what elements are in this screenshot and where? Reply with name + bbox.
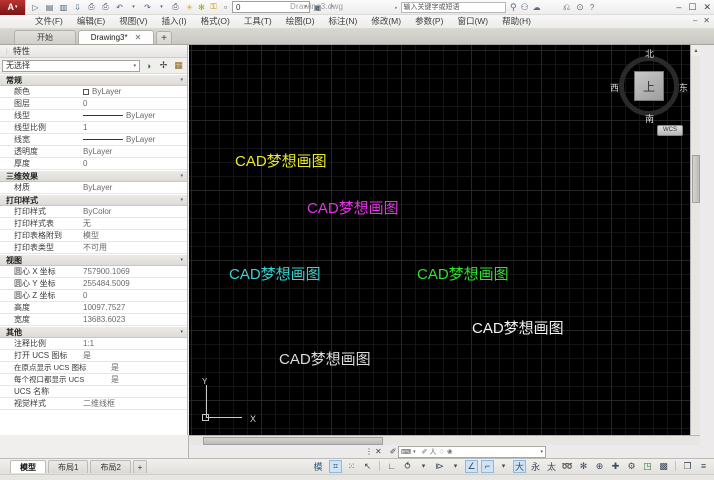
layout-tab-label: 布局1 — [58, 462, 78, 473]
selection-cycling-toggle[interactable]: 太 — [545, 460, 558, 473]
search-icon[interactable]: ⚲ — [510, 2, 517, 13]
tab-drawing3[interactable]: Drawing3* ✕ — [78, 30, 154, 44]
selection-value: 无选择 — [6, 60, 30, 71]
property-row[interactable]: 打印样式表 无 — [0, 218, 187, 230]
command-tool-icon-3[interactable]: ♢ — [439, 448, 445, 456]
layout-tab-layout1[interactable]: 布局1 — [48, 460, 88, 473]
quick-select-icon[interactable]: ◑ — [142, 59, 155, 72]
model-space-button[interactable]: 模 — [310, 460, 326, 473]
command-tool-icon-2[interactable]: 人 — [430, 447, 437, 457]
property-value[interactable]: 0 — [80, 99, 187, 108]
group-label: 视图 — [6, 255, 22, 266]
snap-mode-toggle[interactable]: ⁙ — [345, 460, 358, 473]
polar-tracking-toggle[interactable]: ⥀ — [401, 460, 414, 473]
color-swatch-icon — [83, 89, 89, 95]
status-separator — [379, 461, 380, 471]
group-header-3d-effects[interactable]: 三维效果 ▾ — [0, 170, 187, 182]
drawing-canvas[interactable]: CAD梦想画图 CAD梦想画图 CAD梦想画图 CAD梦想画图 CAD梦想画图 … — [189, 45, 700, 445]
redo-icon[interactable]: ↷ — [141, 1, 154, 14]
property-value[interactable]: 0 — [80, 159, 187, 168]
compass-south-label[interactable]: 南 — [645, 112, 654, 125]
cad-text-white-lower[interactable]: CAD梦想画图 — [279, 348, 371, 369]
property-label: 打印样式 — [0, 206, 80, 217]
property-value-cell[interactable]: ByLayer — [80, 111, 187, 120]
hardware-accel-icon[interactable]: ◳ — [641, 460, 654, 473]
property-value[interactable]: 1 — [80, 123, 187, 132]
group-label: 打印样式 — [6, 195, 38, 206]
new-icon[interactable]: ▷ — [29, 1, 42, 14]
command-line-handles: ⋮ ✕ ✐ — [365, 447, 396, 456]
property-value[interactable]: 是 — [108, 362, 187, 373]
ucs-y-axis — [206, 385, 207, 417]
menu-modify[interactable]: 修改(M) — [364, 15, 408, 28]
save-as-icon[interactable]: ▥ — [57, 1, 70, 14]
property-row[interactable]: 打印表格附到 模型 — [0, 230, 187, 242]
print-icon[interactable]: ⎙ — [99, 1, 112, 14]
menu-dimension[interactable]: 标注(N) — [322, 15, 365, 28]
share-icon[interactable]: ⎌ — [563, 2, 570, 13]
property-row[interactable]: 宽度 13683.6023 — [0, 314, 187, 326]
menu-help[interactable]: 帮助(H) — [495, 15, 538, 28]
layer-current-value: 0 — [236, 3, 240, 12]
ortho-mode-toggle[interactable]: ∟ — [385, 460, 398, 473]
search-group: ▸ 输入关键字或短语 — [395, 2, 506, 13]
property-label: 宽度 — [0, 314, 80, 325]
customize-icon[interactable]: ✐ — [390, 447, 397, 456]
property-label: 线宽 — [0, 134, 80, 145]
search-chevron-icon: ▸ — [395, 5, 398, 11]
quick-calc-icon[interactable]: ▦ — [172, 59, 185, 72]
clean-screen-button[interactable]: ❐ — [681, 460, 694, 473]
layout-tab-label: 布局2 — [100, 462, 120, 473]
property-label: 每个视口都显示 UCS — [0, 374, 108, 385]
chevron-down-icon: ▾ — [180, 257, 183, 263]
properties-list[interactable]: 常规 ▾ 颜色 ByLayer 图层 0 线型 ByLayer — [0, 74, 187, 435]
osnap-dropdown[interactable]: ▾ — [449, 460, 462, 473]
undo-dropdown-icon[interactable]: ▾ — [127, 1, 140, 14]
group-label: 常规 — [6, 75, 22, 86]
title-bar: A ▾ ▷ ▤ ▥ ⇩ ⎙ ⎙ ↶ ▾ ↷ ▾ ⎙ ☀ ✻ ⚿ ▫ 0 ▾ ▣ — [0, 0, 714, 15]
command-tool-icon-4[interactable]: ❀ — [447, 448, 453, 456]
command-tool-icon-1[interactable]: ✐ — [422, 448, 428, 456]
annotation-visibility-toggle[interactable]: ⊕ — [593, 460, 606, 473]
property-value: ByLayer — [126, 111, 155, 120]
redo-dropdown-icon[interactable]: ▾ — [155, 1, 168, 14]
property-row[interactable]: UCS 名称 — [0, 386, 187, 398]
property-label: 打开 UCS 图标 — [0, 350, 80, 361]
chevron-down-icon: ▾ — [180, 173, 183, 179]
property-label: 圆心 Y 坐标 — [0, 278, 80, 289]
property-row[interactable]: 线型比例 1 — [0, 122, 187, 134]
property-label: 厚度 — [0, 158, 80, 169]
help-icon[interactable]: ? — [590, 3, 594, 12]
cloud-tools-group: ⚲ ⚇ ☁ — [510, 2, 541, 13]
property-label: 打印表类型 — [0, 242, 80, 253]
property-row[interactable]: 线型 ByLayer — [0, 110, 187, 122]
menu-file[interactable]: 文件(F) — [28, 15, 70, 28]
group-label: 其他 — [6, 327, 22, 338]
file-tab-bar: 开始 Drawing3* ✕ + — [0, 29, 714, 45]
app-menu-caret-icon: ▾ — [15, 4, 18, 10]
property-value[interactable]: 10097.7527 — [80, 303, 187, 312]
infer-constraints-toggle[interactable]: ↖ — [361, 460, 374, 473]
chevron-down-icon: ▾ — [180, 197, 183, 203]
property-row[interactable]: 在原点显示 UCS 图标 是 — [0, 362, 187, 374]
canvas-vertical-scrollbar[interactable]: ▴ ▾ — [690, 45, 700, 445]
property-value-cell[interactable]: ByLayer — [80, 87, 187, 96]
property-row[interactable]: 圆心 Y 坐标 255484.5009 — [0, 278, 187, 290]
ucs-icon: Y X — [200, 381, 252, 423]
group-label: 三维效果 — [6, 171, 38, 182]
command-expand-icon[interactable]: ▾ — [540, 449, 543, 455]
property-value[interactable]: 1:1 — [80, 339, 187, 348]
polar-dropdown[interactable]: ▾ — [417, 460, 430, 473]
workspace-switch-button[interactable]: ⚙ — [625, 460, 638, 473]
cad-text-magenta[interactable]: CAD梦想画图 — [307, 197, 399, 218]
new-tab-button[interactable]: + — [156, 31, 172, 44]
property-label: 打印表格附到 — [0, 230, 80, 241]
grid-display-toggle[interactable]: ⌗ — [329, 460, 342, 473]
property-label: UCS 名称 — [0, 386, 80, 397]
panel-grip-icon[interactable]: ⋮ — [4, 48, 10, 55]
chevron-down-icon[interactable]: ▾ — [413, 449, 416, 455]
menu-parametric[interactable]: 参数(P) — [408, 15, 450, 28]
property-label: 打印样式表 — [0, 218, 80, 229]
property-label: 视觉样式 — [0, 398, 80, 409]
customization-button[interactable]: ≡ — [697, 460, 710, 473]
compass-east-label[interactable]: 东 — [679, 81, 688, 94]
plot-icon[interactable]: ⎙ — [85, 1, 98, 14]
ucs-x-label: X — [250, 414, 256, 424]
property-value[interactable]: 二维线框 — [80, 398, 187, 409]
scroll-up-icon[interactable]: ▴ — [691, 45, 700, 56]
chevron-down-icon: ▾ — [133, 63, 136, 69]
property-row[interactable]: 透明度 ByLayer — [0, 146, 187, 158]
ucs-y-label: Y — [202, 377, 207, 386]
scrollbar-thumb[interactable] — [692, 155, 700, 203]
lineweight-preview-icon — [83, 139, 123, 140]
status-separator — [675, 461, 676, 471]
group-header-misc[interactable]: 其他 ▾ — [0, 326, 187, 338]
layout-tab-model[interactable]: 模型 — [10, 460, 46, 473]
property-label: 注释比例 — [0, 338, 80, 349]
property-value[interactable]: 13683.6023 — [80, 315, 187, 324]
view-cube-top-face[interactable]: 上 — [634, 71, 664, 101]
document-title: Drawing3.dwg — [290, 2, 343, 11]
transparency-toggle[interactable]: 永 — [529, 460, 542, 473]
property-row[interactable]: 颜色 ByLayer — [0, 86, 187, 98]
autodesk-a360-icon[interactable]: ⊙ — [576, 2, 584, 13]
property-value[interactable]: 757900.1069 — [80, 267, 187, 276]
property-label: 线型 — [0, 110, 80, 121]
app-logo-letter: A — [7, 2, 14, 12]
account-icon[interactable]: ⚇ — [521, 2, 529, 13]
close-icon[interactable]: ✕ — [375, 447, 382, 456]
ucs-x-axis — [206, 417, 242, 418]
property-row[interactable]: 线宽 ByLayer — [0, 134, 187, 146]
cad-application-window: A ▾ ▷ ▤ ▥ ⇩ ⎙ ⎙ ↶ ▾ ↷ ▾ ⎙ ☀ ✻ ⚿ ▫ 0 ▾ ▣ — [0, 0, 714, 480]
menu-bar: 文件(F) 编辑(E) 视图(V) 插入(I) 格式(O) 工具(T) 绘图(D… — [0, 15, 714, 29]
property-value: ByLayer — [92, 87, 121, 96]
layout-tab-label: 模型 — [20, 462, 36, 473]
property-value[interactable]: 0 — [80, 291, 187, 300]
property-value[interactable]: ByLayer — [80, 183, 187, 192]
group-header-general[interactable]: 常规 ▾ — [0, 74, 187, 86]
property-row[interactable]: 每个视口都显示 UCS 是 — [0, 374, 187, 386]
tab-start-label: 开始 — [37, 32, 53, 43]
property-label: 透明度 — [0, 146, 80, 157]
compass-north-label[interactable]: 北 — [645, 47, 654, 60]
app-menu-button[interactable]: A ▾ — [0, 0, 26, 15]
search-input[interactable]: 输入关键字或短语 — [401, 2, 506, 13]
property-value[interactable]: 255484.5009 — [80, 279, 187, 288]
property-row[interactable]: 打印样式 ByColor — [0, 206, 187, 218]
property-label: 在原点显示 UCS 图标 — [0, 362, 108, 373]
add-layout-button[interactable]: + — [133, 460, 147, 473]
selection-row: 无选择 ▾ ◑ ✢ ▦ — [0, 58, 187, 74]
properties-panel-header: ⋮ 特性 — [0, 45, 187, 58]
property-row[interactable]: 高度 10097.7527 — [0, 302, 187, 314]
restore-document-button[interactable]: – — [693, 16, 697, 25]
property-label: 圆心 Z 坐标 — [0, 290, 80, 301]
property-row[interactable]: 圆心 X 坐标 757900.1069 — [0, 266, 187, 278]
cloud-icon[interactable]: ☁ — [533, 3, 541, 12]
property-row[interactable]: 厚度 0 — [0, 158, 187, 170]
close-icon[interactable]: ✕ — [135, 33, 142, 42]
property-value[interactable]: ByLayer — [80, 147, 187, 156]
property-label: 圆心 X 坐标 — [0, 266, 80, 277]
page-title: 特性 — [13, 45, 30, 57]
property-label: 颜色 — [0, 86, 80, 97]
command-grip-icon[interactable]: ⋮ — [365, 447, 373, 456]
window-bottom-edge — [0, 474, 714, 480]
layer-on-icon[interactable]: ☀ — [184, 2, 195, 13]
close-button[interactable]: ✕ — [703, 1, 711, 13]
linetype-preview-icon — [83, 115, 123, 116]
compass-west-label[interactable]: 西 — [610, 81, 619, 94]
property-row[interactable]: 打印表类型 不可用 — [0, 242, 187, 254]
pick-select-icon[interactable]: ✢ — [157, 59, 170, 72]
save-icon[interactable]: ▤ — [43, 1, 56, 14]
help-tools-group: ⎌ ⊙ ? — [563, 2, 594, 13]
command-prompt-icon: ⌨ — [401, 448, 411, 456]
group-header-view[interactable]: 视图 ▾ — [0, 254, 187, 266]
property-label: 材质 — [0, 182, 80, 193]
property-value[interactable]: 无 — [80, 218, 187, 229]
layer-color-swatch[interactable]: ▫ — [220, 2, 231, 13]
property-value[interactable]: ByColor — [80, 207, 187, 216]
menu-tools[interactable]: 工具(T) — [237, 15, 279, 28]
tab-drawing3-label: Drawing3* — [91, 33, 128, 42]
document-window-buttons: – ✕ — [693, 16, 710, 25]
cad-text-yellow[interactable]: CAD梦想画图 — [235, 150, 327, 171]
layout-tab-layout2[interactable]: 布局2 — [90, 460, 130, 473]
minimize-button[interactable]: – — [676, 1, 681, 13]
property-row[interactable]: 视觉样式 二维线框 — [0, 398, 187, 410]
canvas-horizontal-scrollbar[interactable] — [189, 435, 700, 445]
group-header-plot-style[interactable]: 打印样式 ▾ — [0, 194, 187, 206]
status-bar: 模 ⌗ ⁙ ↖ ∟ ⥀ ▾ ⧐ ▾ ∠ ⌐ ▾ 大 永 太 ➿ ✻ ⊕ ✚ ⚙ … — [310, 459, 710, 473]
window-buttons: – ☐ ✕ — [676, 1, 711, 13]
ucs-origin-box — [202, 414, 209, 421]
auto-scale-toggle[interactable]: ✚ — [609, 460, 622, 473]
batch-plot-icon[interactable]: ⎙ — [169, 1, 182, 14]
object-snap-tracking-toggle[interactable]: ∠ — [465, 460, 478, 473]
menu-view[interactable]: 视图(V) — [112, 15, 154, 28]
chevron-down-icon: ▾ — [180, 329, 183, 335]
hscrollbar-thumb[interactable] — [203, 437, 383, 445]
isolate-objects-icon[interactable]: ▩ — [657, 460, 670, 473]
command-input-bar[interactable]: ⌨ ▾ ✐ 人 ♢ ❀ ▾ — [398, 446, 546, 458]
close-document-button[interactable]: ✕ — [703, 16, 710, 25]
property-label: 线型比例 — [0, 122, 80, 133]
property-row[interactable]: 图层 0 — [0, 98, 187, 110]
wcs-dropdown[interactable]: WCS — [657, 125, 683, 136]
view-cube[interactable]: 上 北 南 西 东 — [612, 49, 686, 123]
cad-text-white-right[interactable]: CAD梦想画图 — [472, 317, 564, 338]
annotation-scale-button[interactable]: ✻ — [577, 460, 590, 473]
menu-window[interactable]: 窗口(W) — [450, 15, 495, 28]
ucs-icon-toggle[interactable]: ⌐ — [481, 460, 494, 473]
property-row[interactable]: 注释比例 1:1 — [0, 338, 187, 350]
properties-panel-footer — [0, 435, 189, 458]
menu-format[interactable]: 格式(O) — [194, 15, 237, 28]
layer-freeze-icon[interactable]: ✻ — [196, 2, 207, 13]
property-row[interactable]: 圆心 Z 坐标 0 — [0, 290, 187, 302]
layer-lock-icon[interactable]: ⚿ — [208, 2, 219, 13]
undo-icon[interactable]: ↶ — [113, 1, 126, 14]
cad-text-green[interactable]: CAD梦想画图 — [417, 263, 509, 284]
property-value-cell[interactable]: ByLayer — [80, 135, 187, 144]
menu-edit[interactable]: 编辑(E) — [70, 15, 112, 28]
menu-insert[interactable]: 插入(I) — [155, 15, 194, 28]
annotation-monitor-toggle[interactable]: ➿ — [561, 460, 574, 473]
selection-dropdown[interactable]: 无选择 ▾ — [2, 60, 140, 72]
property-value[interactable]: 是 — [80, 350, 187, 361]
property-value[interactable]: 不可用 — [80, 242, 187, 253]
tab-start[interactable]: 开始 — [14, 30, 76, 44]
cad-text-cyan[interactable]: CAD梦想画图 — [229, 263, 321, 284]
property-row[interactable]: 材质 ByLayer — [0, 182, 187, 194]
object-snap-toggle[interactable]: ⧐ — [433, 460, 446, 473]
property-value: ByLayer — [126, 135, 155, 144]
chevron-down-icon: ▾ — [180, 77, 183, 83]
lineweight-toggle[interactable]: 大 — [513, 460, 526, 473]
dyn-dropdown[interactable]: ▾ — [497, 460, 510, 473]
maximize-button[interactable]: ☐ — [688, 1, 696, 13]
export-icon[interactable]: ⇩ — [71, 1, 84, 14]
properties-panel: ⋮ 特性 无选择 ▾ ◑ ✢ ▦ 常规 ▾ 颜色 ByLayer — [0, 45, 188, 435]
property-label: 高度 — [0, 302, 80, 313]
property-row[interactable]: 打开 UCS 图标 是 — [0, 350, 187, 362]
property-value[interactable]: 模型 — [80, 230, 187, 241]
menu-draw[interactable]: 绘图(D) — [279, 15, 322, 28]
quick-access-toolbar: ▷ ▤ ▥ ⇩ ⎙ ⎙ ↶ ▾ ↷ ▾ ⎙ — [26, 1, 182, 14]
property-value[interactable]: 是 — [108, 374, 187, 385]
property-label: 图层 — [0, 98, 80, 109]
